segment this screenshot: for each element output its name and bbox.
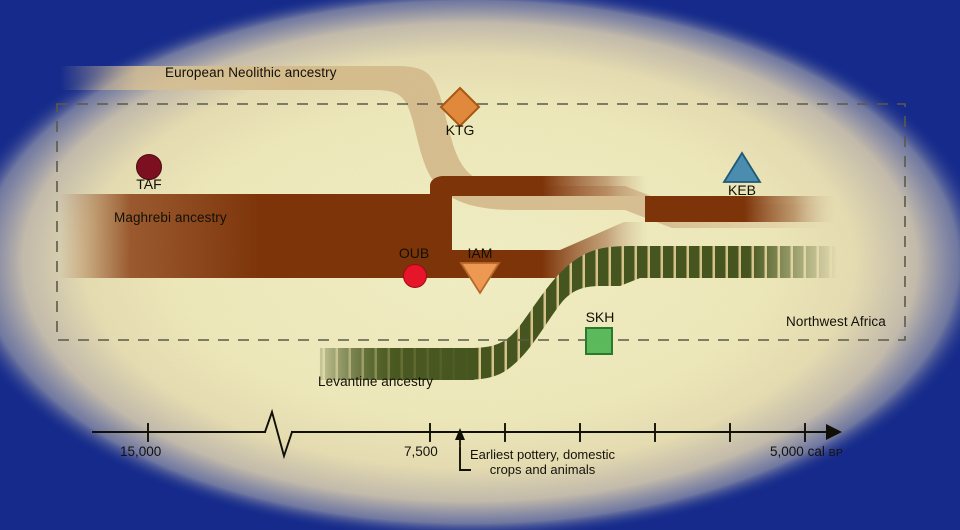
axis-unit-cal: cal (808, 444, 825, 459)
annotation-line-1: Earliest pottery, domestic (470, 447, 615, 462)
marker-label-taf: TAF (119, 176, 179, 192)
marker-iam[interactable] (458, 260, 502, 301)
marker-label-iam: IAM (450, 245, 510, 261)
band-label-european-neolithic: European Neolithic ancestry (165, 65, 337, 80)
triangle-up-icon (722, 151, 762, 185)
annotation-line-2: crops and animals (470, 462, 615, 477)
marker-label-oub: OUB (384, 245, 444, 261)
triangle-down-icon (458, 260, 502, 296)
square-icon (584, 326, 614, 356)
region-label-northwest-africa: Northwest Africa (786, 314, 886, 329)
marker-oub[interactable] (400, 261, 430, 296)
marker-label-ktg: KTG (430, 122, 490, 138)
axis-unit-bp: BP (829, 447, 844, 459)
axis-tick-label-7500: 7,500 (404, 444, 438, 459)
band-label-maghrebi: Maghrebi ancestry (114, 210, 227, 225)
annotation-earliest-pottery: Earliest pottery, domestic crops and ani… (470, 447, 615, 477)
axis-tick-value-5000: 5,000 (770, 444, 804, 459)
marker-skh[interactable] (584, 326, 614, 361)
annotation-leader (455, 428, 470, 470)
circle-icon (400, 261, 430, 291)
axis-tick-label-15000: 15,000 (120, 444, 161, 459)
band-label-levantine: Levantine ancestry (318, 374, 433, 389)
marker-label-keb: KEB (712, 182, 772, 198)
marker-label-skh: SKH (570, 309, 630, 325)
figure-canvas: European Neolithic ancestry Maghrebi anc… (0, 0, 960, 530)
axis-tick-label-5000: 5,000 cal BP (770, 444, 843, 459)
